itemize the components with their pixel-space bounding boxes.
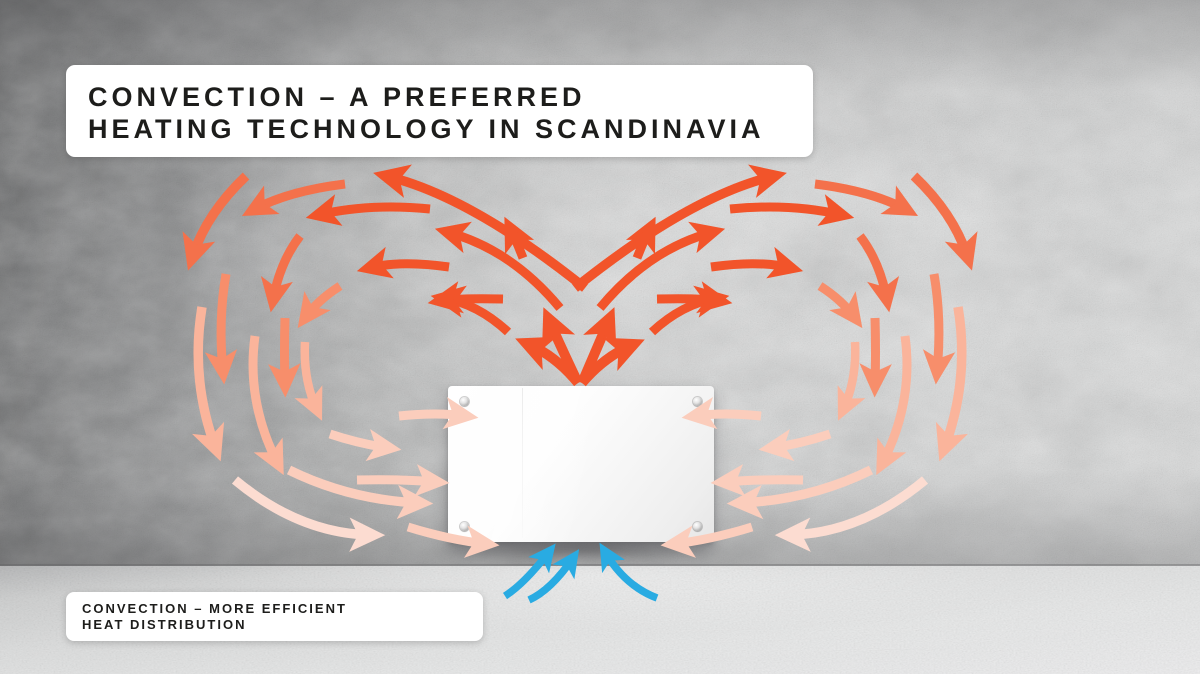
right-return-arrow-mid	[740, 470, 871, 503]
title-text-block: CONVECTION – A PREFERRED HEATING TECHNOL…	[88, 81, 803, 145]
title-plate: CONVECTION – A PREFERRED HEATING TECHNOL…	[66, 65, 813, 157]
left-return-arrow-into-heater-top	[399, 414, 466, 416]
right-arc-ring1-out	[711, 264, 791, 268]
left-return-arrow-into-heater-bottom	[408, 527, 487, 544]
title-line-2: HEATING TECHNOLOGY IN SCANDINAVIA	[88, 113, 803, 145]
right-arc-ring1-turn	[820, 286, 855, 318]
right-return-arrow-into-heater-top	[694, 414, 761, 416]
right-arc-ring3-descend	[934, 274, 939, 372]
left-arc-ring4-short	[305, 342, 317, 410]
left-arc-ring4-descend	[198, 307, 216, 449]
right-arc-ring3-turn	[914, 176, 968, 258]
left-arc-ring4-inner-descend	[253, 336, 278, 464]
right-arc-ring4-descend	[944, 307, 962, 449]
infographic-scene: CONVECTION – A PREFERRED HEATING TECHNOL…	[0, 0, 1200, 674]
left-arc-ring2-descend	[273, 236, 300, 300]
caption-text-block: CONVECTION – MORE EFFICIENT HEAT DISTRIB…	[82, 601, 477, 633]
right-return-arrow-upper	[771, 434, 830, 448]
left-arc-inner-left	[440, 299, 503, 301]
caption-plate: CONVECTION – MORE EFFICIENT HEAT DISTRIB…	[66, 592, 483, 641]
left-arc-ring1-turn	[305, 286, 340, 318]
left-arc-ring3-turn	[192, 176, 246, 258]
title-line-1: CONVECTION – A PREFERRED	[88, 81, 803, 113]
hot-plume-group	[528, 320, 632, 383]
right-arc-ring4-short	[843, 342, 855, 410]
cold-air-intake-group	[505, 552, 657, 600]
left-arc-ring2-down	[285, 318, 286, 385]
cold-intake-arrow-3	[605, 552, 657, 598]
left-return-arrow-into-heater-mid	[357, 480, 437, 482]
right-return-arrow-into-heater-bottom	[673, 527, 752, 544]
right-arc-ring2-down	[875, 318, 876, 385]
left-arc-ring3-out	[253, 184, 345, 210]
right-arc-ring3-out	[815, 184, 907, 210]
right-arc-ring2-rise	[575, 176, 774, 288]
left-arc-ring2-out	[318, 207, 430, 215]
right-return-arrow-into-heater-mid	[723, 480, 803, 482]
right-circulation-group	[575, 176, 968, 544]
caption-line-2: HEAT DISTRIBUTION	[82, 617, 477, 633]
left-return-arrow-upper	[330, 434, 389, 448]
right-arc-ring2-descend	[860, 236, 887, 300]
caption-line-1: CONVECTION – MORE EFFICIENT	[82, 601, 477, 617]
right-arc-ring2-out	[730, 207, 842, 215]
left-arc-ring1-out	[369, 264, 449, 268]
right-arc-ring4-inner-descend	[882, 336, 907, 464]
left-circulation-group	[192, 176, 585, 544]
left-return-arrow-mid	[289, 470, 420, 503]
left-arc-ring2-rise	[386, 176, 585, 288]
right-arc-inner-right	[657, 299, 720, 301]
left-arc-ring3-descend	[221, 274, 226, 372]
